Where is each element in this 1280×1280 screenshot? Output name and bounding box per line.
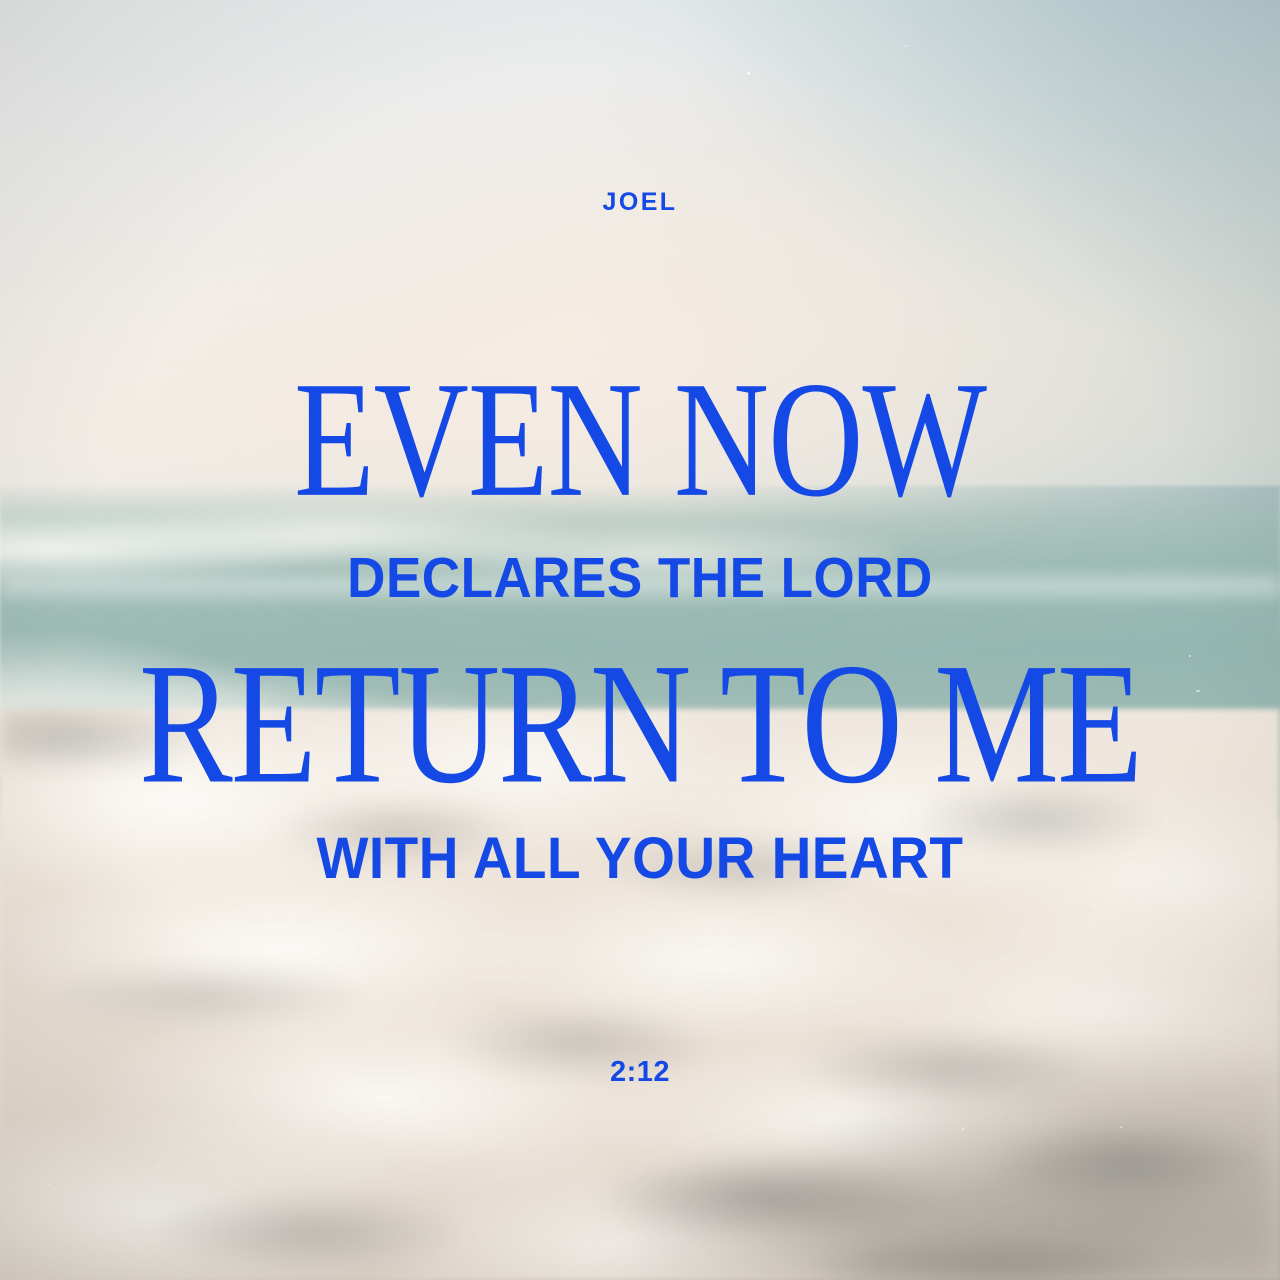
cloud-dark-mass bbox=[563, 934, 1280, 1280]
verse-line-declares-the-lord: DECLARES THE LORD bbox=[0, 546, 1280, 611]
book-name-label: JOEL bbox=[0, 188, 1280, 217]
verse-line-with-all-your-heart: WITH ALL YOUR HEART bbox=[0, 824, 1280, 892]
verse-line-even-now: EVEN NOW bbox=[19, 357, 1261, 523]
verse-reference-label: 2:12 bbox=[0, 1056, 1280, 1089]
verse-line-return-to-me: RETURN TO ME bbox=[6, 636, 1273, 809]
verse-text-overlay: JOEL EVEN NOW DECLARES THE LORD RETURN T… bbox=[0, 0, 1280, 1280]
verse-image-canvas: JOEL EVEN NOW DECLARES THE LORD RETURN T… bbox=[0, 0, 1280, 1280]
